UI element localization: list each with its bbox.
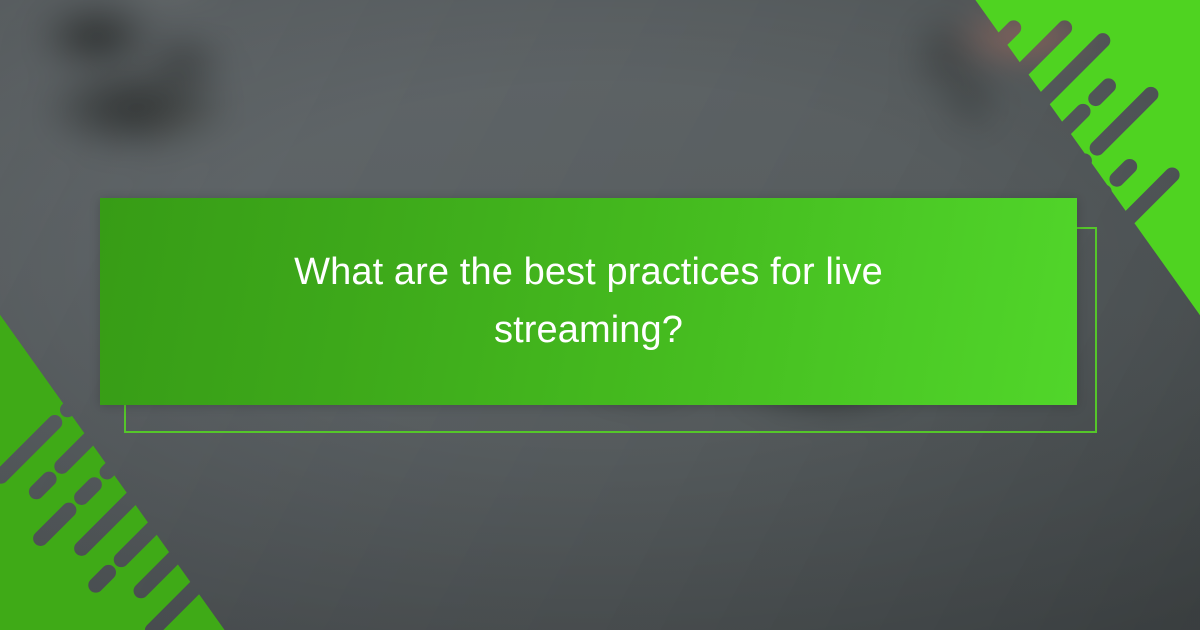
social-share-card: What are the best practices for live str…	[0, 0, 1200, 630]
page-title: What are the best practices for live str…	[239, 244, 939, 360]
headline-panel: What are the best practices for live str…	[100, 198, 1077, 405]
